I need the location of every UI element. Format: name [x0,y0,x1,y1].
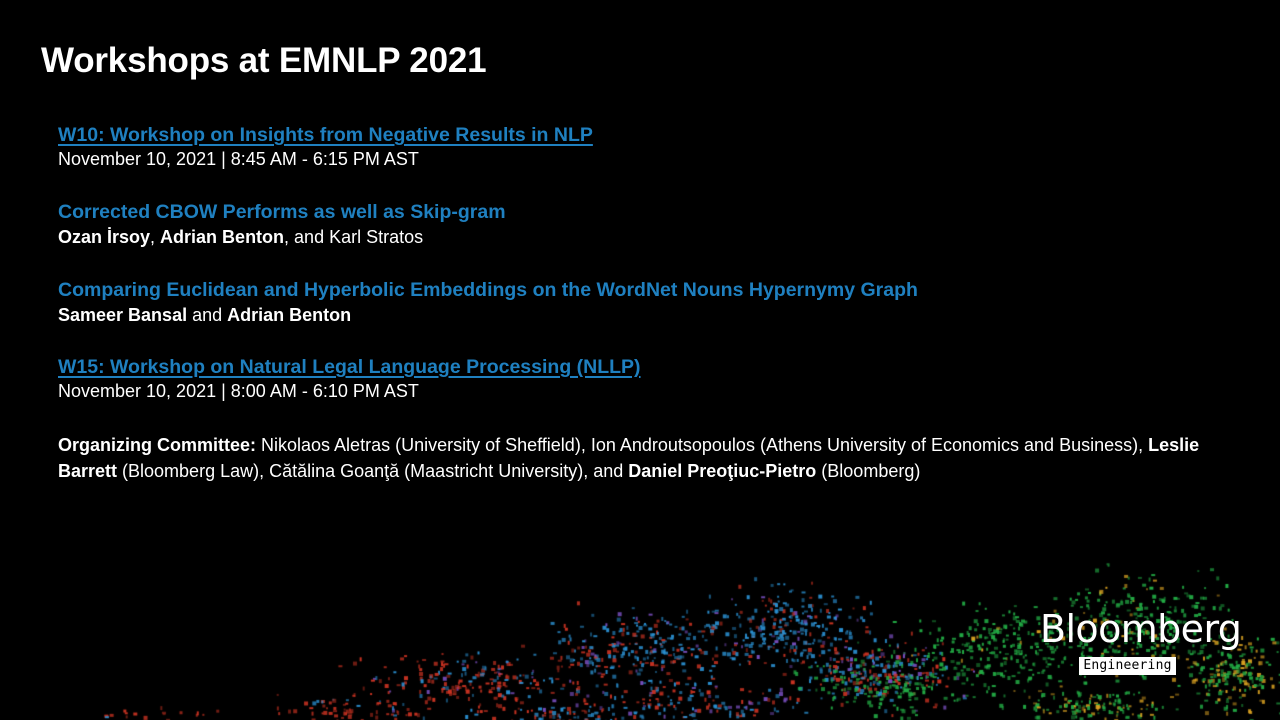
page-title: Workshops at EMNLP 2021 [41,41,486,81]
workshop-date-w15: November 10, 2021 | 8:00 AM - 6:10 PM AS… [58,379,1238,404]
slide-content: W10: Workshop on Insights from Negative … [58,124,1238,484]
paper-title-2: Comparing Euclidean and Hyperbolic Embed… [58,278,1238,303]
paper-entry-2: Comparing Euclidean and Hyperbolic Embed… [58,278,1238,328]
workshop-link-w15[interactable]: W15: Workshop on Natural Legal Language … [58,356,641,379]
paper-authors-1: Ozan İrsoy, Adrian Benton, and Karl Stra… [58,225,1238,250]
workshop-link-w10[interactable]: W10: Workshop on Insights from Negative … [58,124,593,147]
paper-authors-2: Sameer Bansal and Adrian Benton [58,303,1238,328]
organizing-committee-paragraph: Organizing Committee: Nikolaos Aletras (… [58,432,1208,484]
bloomberg-logo: Bloomberg Engineering [1040,608,1215,675]
bloomberg-wordmark: Bloomberg [1040,608,1215,650]
workshop-entry-w15: W15: Workshop on Natural Legal Language … [58,356,1238,404]
workshop-date-w10: November 10, 2021 | 8:45 AM - 6:15 PM AS… [58,147,1238,172]
workshop-entry-w10: W10: Workshop on Insights from Negative … [58,124,1238,172]
bloomberg-engineering-badge: Engineering [1079,657,1175,675]
slide-root: Workshops at EMNLP 2021 W10: Workshop on… [0,0,1280,720]
paper-entry-1: Corrected CBOW Performs as well as Skip-… [58,200,1238,250]
paper-title-1: Corrected CBOW Performs as well as Skip-… [58,200,1238,225]
